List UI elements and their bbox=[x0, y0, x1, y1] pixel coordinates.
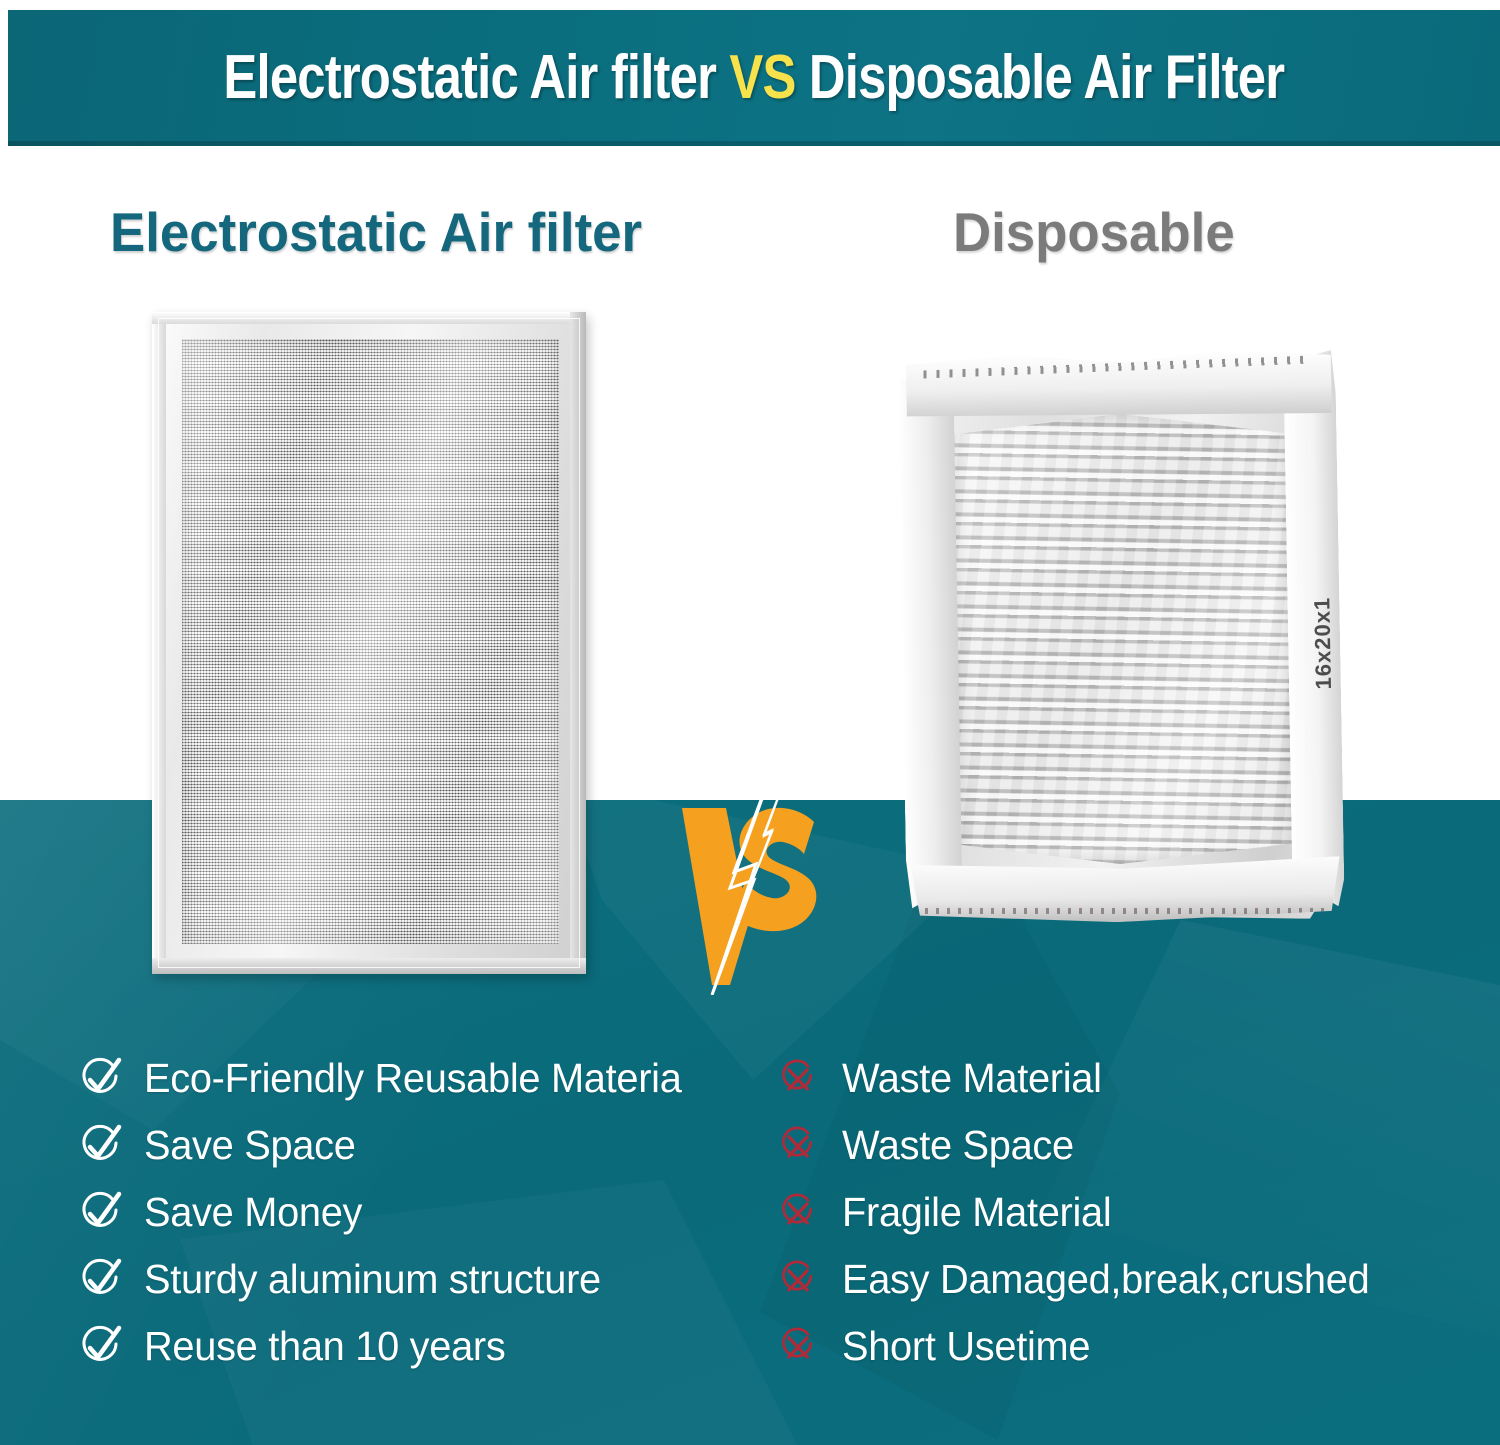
list-item-label: Fragile Material bbox=[842, 1192, 1111, 1233]
right-column-title: Disposable bbox=[953, 205, 1235, 260]
left-column-title: Electrostatic Air filter bbox=[110, 205, 642, 260]
circle-check-icon bbox=[78, 1191, 122, 1235]
list-item-label: Reuse than 10 years bbox=[144, 1326, 505, 1367]
cons-feature-list: Waste Material Waste Space Fragile M bbox=[776, 1045, 1476, 1380]
header-title-vs: VS bbox=[730, 43, 796, 112]
list-item-label: Save Money bbox=[144, 1192, 362, 1233]
pros-feature-list: Eco-Friendly Reusable Materia Save Space… bbox=[78, 1045, 768, 1380]
list-item: Easy Damaged,break,crushed bbox=[776, 1246, 1476, 1313]
header-title: Electrostatic Air filter VS Disposable A… bbox=[224, 47, 1285, 109]
list-item: Sturdy aluminum structure bbox=[78, 1246, 768, 1313]
circle-x-icon bbox=[776, 1124, 820, 1168]
list-item: Waste Material bbox=[776, 1045, 1476, 1112]
header-banner: Electrostatic Air filter VS Disposable A… bbox=[8, 10, 1500, 146]
list-item-label: Waste Space bbox=[842, 1125, 1074, 1166]
filter-mesh-sheen bbox=[182, 339, 559, 944]
list-item-label: Easy Damaged,break,crushed bbox=[842, 1259, 1369, 1300]
circle-check-icon bbox=[78, 1057, 122, 1101]
list-item: Save Space bbox=[78, 1112, 768, 1179]
list-item-label: Short Usetime bbox=[842, 1326, 1090, 1367]
disposable-filter-size-label: 16x20x1 bbox=[1310, 553, 1337, 733]
filter-mesh-screen bbox=[182, 339, 559, 944]
circle-x-icon bbox=[776, 1258, 820, 1302]
circle-check-icon bbox=[78, 1258, 122, 1302]
infographic-root: Electrostatic Air filter VS Disposable A… bbox=[0, 0, 1500, 1445]
disposable-filter-media bbox=[950, 411, 1296, 867]
list-item: Reuse than 10 years bbox=[78, 1313, 768, 1380]
list-item: Save Money bbox=[78, 1179, 768, 1246]
list-item: Short Usetime bbox=[776, 1313, 1476, 1380]
list-item-label: Save Space bbox=[144, 1125, 356, 1166]
list-item-label: Sturdy aluminum structure bbox=[144, 1259, 601, 1300]
list-item: Eco-Friendly Reusable Materia bbox=[78, 1045, 768, 1112]
disposable-filter-image: 16x20x1 bbox=[897, 348, 1345, 926]
circle-x-icon bbox=[776, 1057, 820, 1101]
disposable-frame-top bbox=[897, 348, 1336, 422]
header-title-part2: Disposable Air Filter bbox=[796, 43, 1285, 112]
circle-x-icon bbox=[776, 1191, 820, 1235]
list-item-label: Eco-Friendly Reusable Materia bbox=[144, 1058, 682, 1099]
circle-check-icon bbox=[78, 1124, 122, 1168]
disposable-frame-left bbox=[897, 365, 963, 914]
circle-x-icon bbox=[776, 1325, 820, 1369]
circle-check-icon bbox=[78, 1325, 122, 1369]
list-item: Waste Space bbox=[776, 1112, 1476, 1179]
header-title-part1: Electrostatic Air filter bbox=[224, 43, 730, 112]
list-item: Fragile Material bbox=[776, 1179, 1476, 1246]
electrostatic-filter-image bbox=[152, 312, 586, 974]
list-item-label: Waste Material bbox=[842, 1058, 1102, 1099]
